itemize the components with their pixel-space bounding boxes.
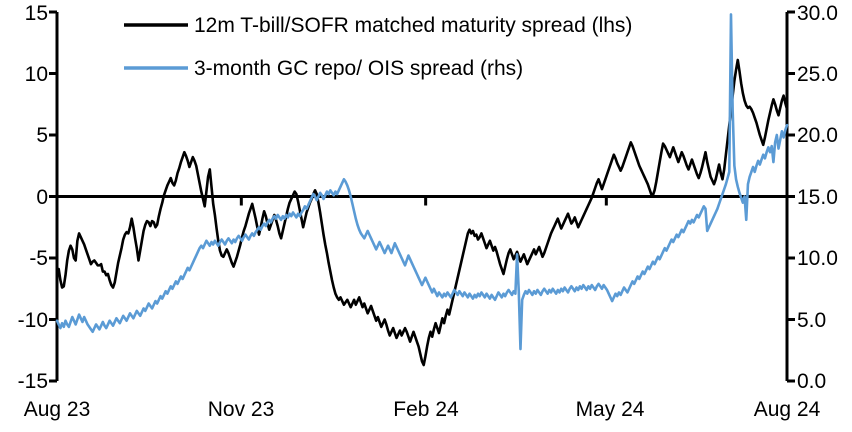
chart-container: 15 10 5 0 -5 -10 -15 30.0 25.0 20.0 15.0… bbox=[0, 0, 852, 432]
legend-swatches bbox=[124, 25, 188, 68]
plot-area bbox=[0, 0, 852, 432]
series-line-2 bbox=[57, 14, 787, 349]
series-line-1 bbox=[57, 60, 787, 365]
